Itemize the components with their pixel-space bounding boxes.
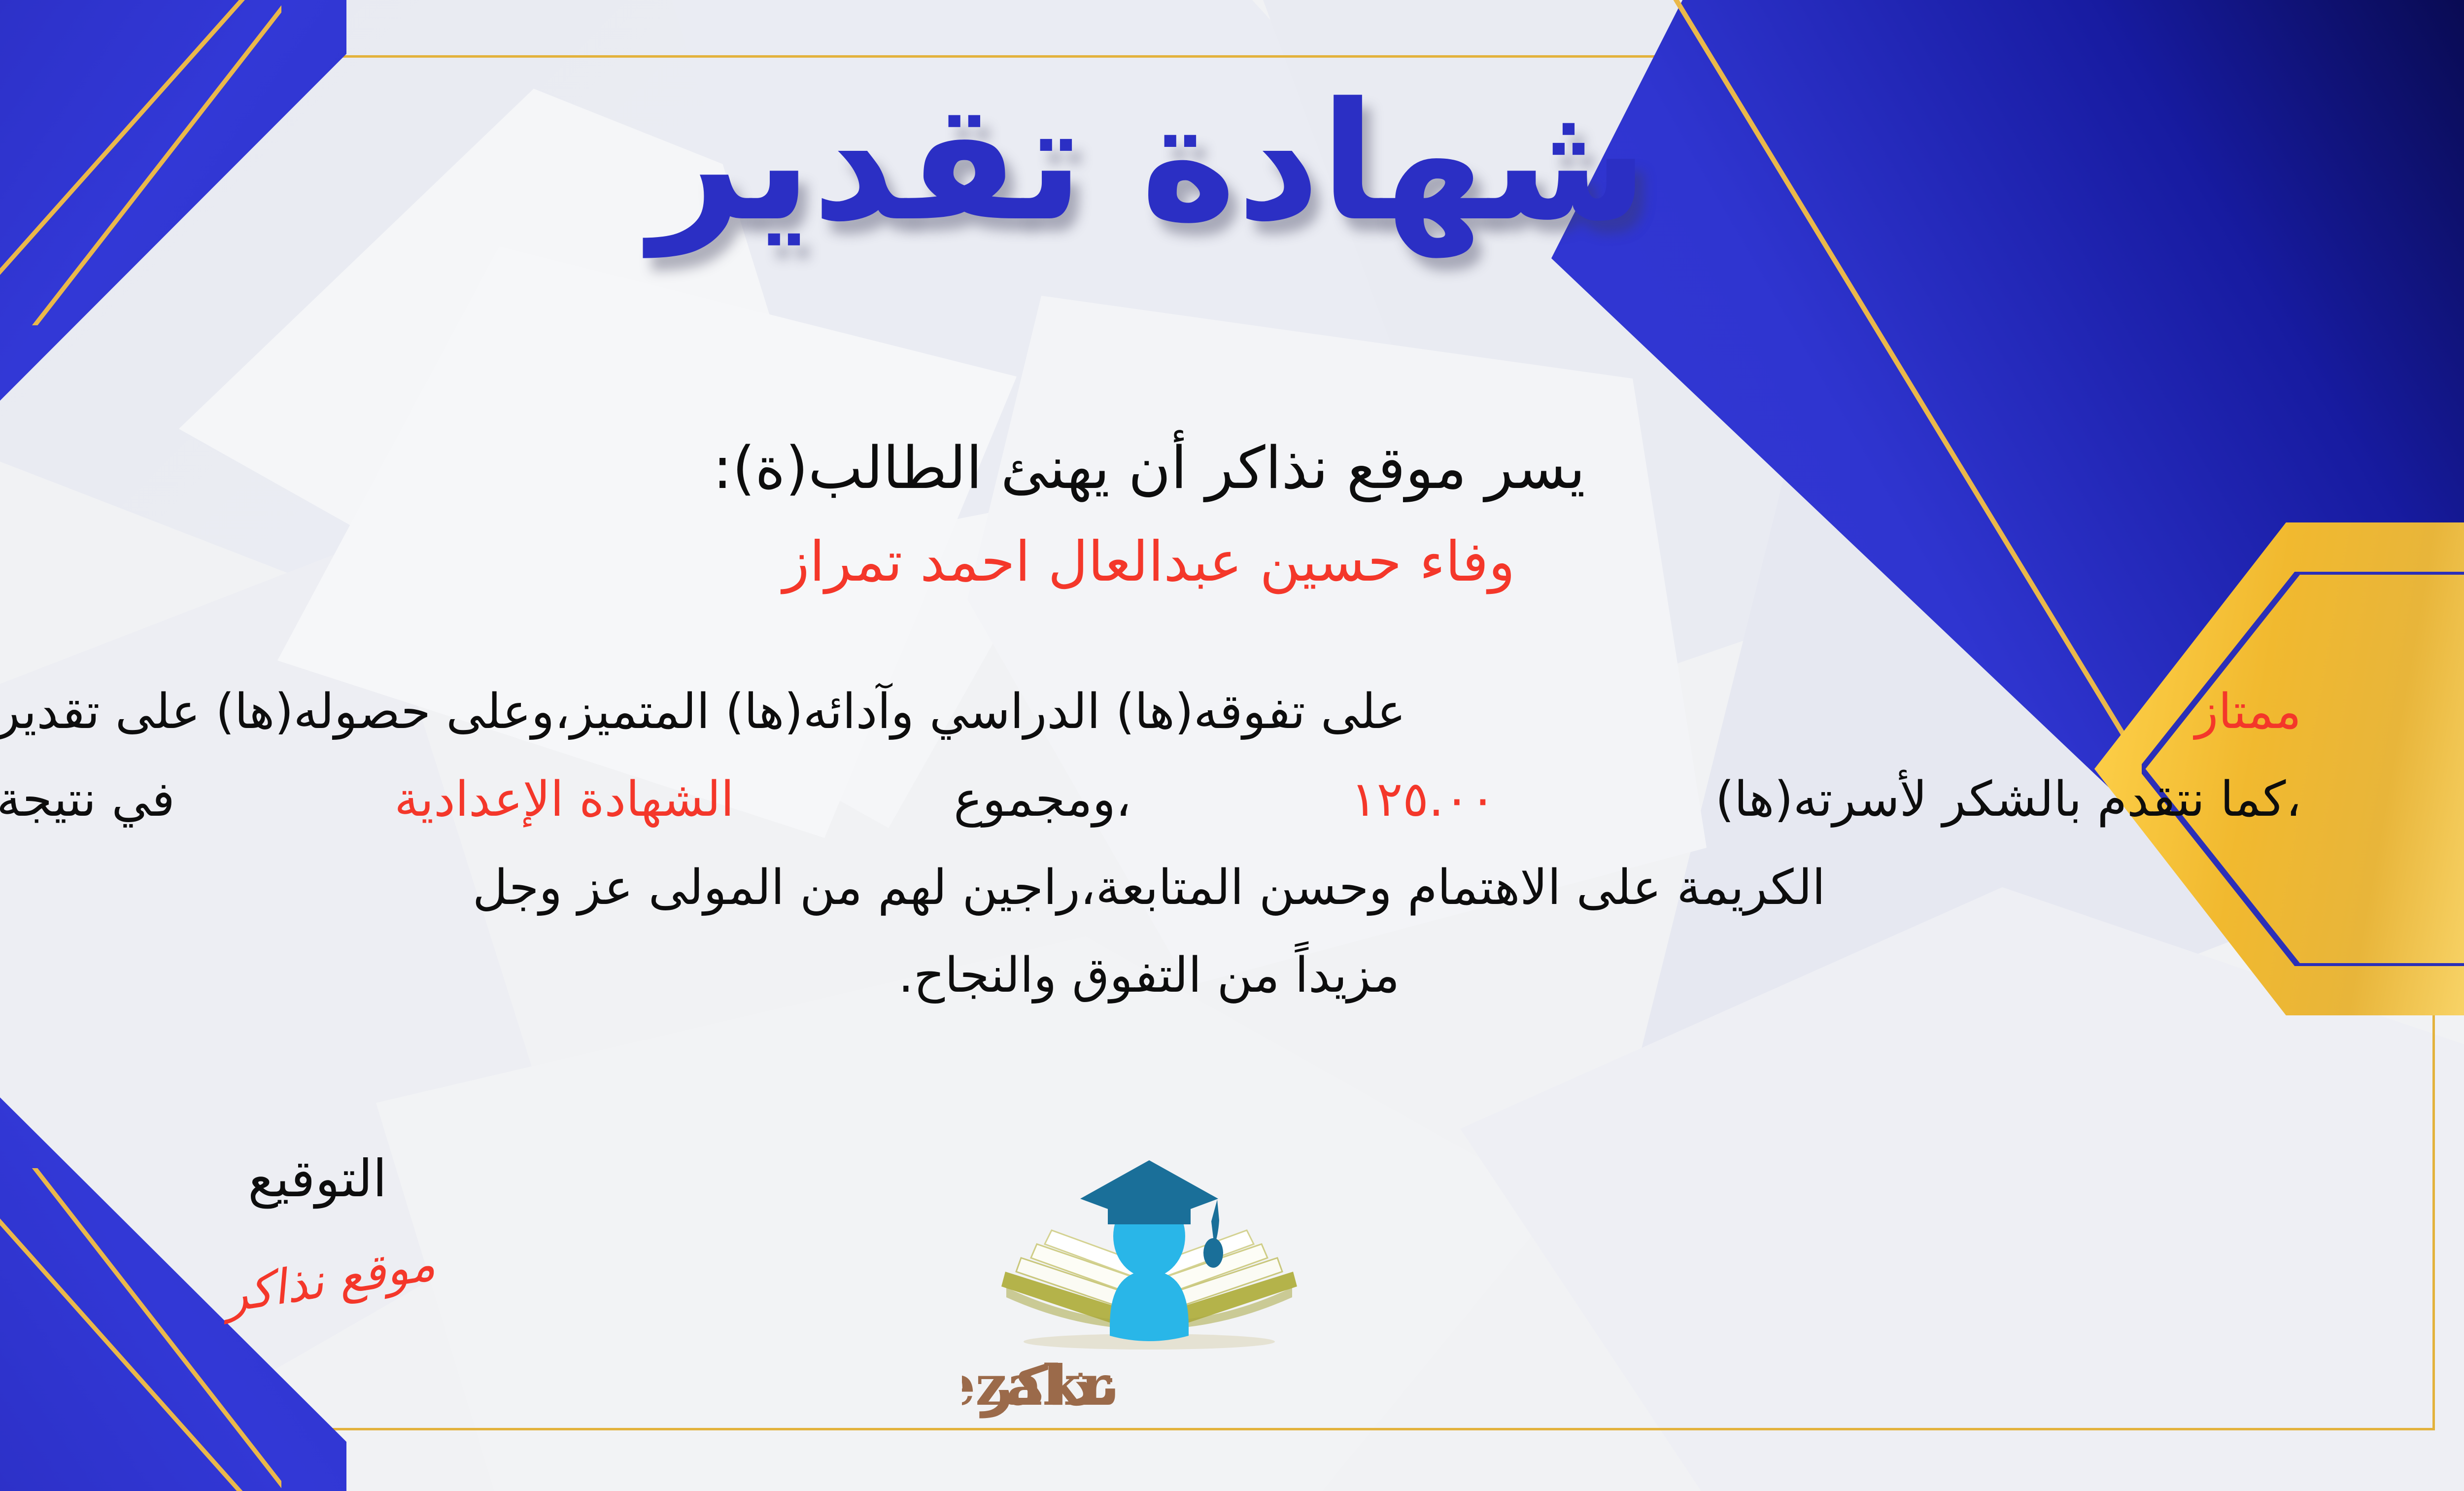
certificate-title: شهادة تقدير xyxy=(0,69,2464,256)
signature-label: التوقيع xyxy=(248,1148,387,1209)
exam-name-value: الشهادة الإعدادية xyxy=(394,756,734,843)
body-line-result-label: في نتيجة xyxy=(0,756,175,843)
nezakr-logo: Nezakr نذاكر xyxy=(962,1124,1336,1429)
body-line-achievement-text: على تفوقه(ها) الدراسي وآدائه(ها) المتميز… xyxy=(0,668,1406,756)
grade-value: ممتاز xyxy=(2195,668,2301,756)
body-line-closing-text: مزيداً من التفوق والنجاح. xyxy=(898,932,1400,1019)
body-line-closing: مزيداً من التفوق والنجاح. xyxy=(0,932,2301,1019)
signature-handwritten: موقع نذاكر xyxy=(220,1236,439,1323)
intro-line: يسر موقع نذاكر أن يهنئ الطالب(ة): xyxy=(0,434,2464,502)
logo-brand-arabic: نذاكر xyxy=(979,1354,1120,1418)
body-line-exam-and-score: ،كما نتقدم بالشكر لأسرته(ها) ١٢٥.٠٠ ،ومج… xyxy=(0,756,2301,843)
total-score-value: ١٢٥.٠٠ xyxy=(1351,756,1496,843)
logo-graphic: Nezakr نذاكر xyxy=(962,1124,1336,1429)
student-name: وفاء حسين عبدالعال احمد تمراز xyxy=(0,530,2464,594)
body-line-total-label: ،ومجموع xyxy=(954,756,1131,843)
certificate-canvas: شهادة تقدير يسر موقع نذاكر أن يهنئ الطال… xyxy=(0,0,2464,1491)
body-line-thanks-text: ،كما نتقدم بالشكر لأسرته(ها) xyxy=(1715,756,2301,843)
body-line-gratitude-text: الكريمة على الاهتمام وحسن المتابعة،راجين… xyxy=(473,844,1825,932)
certificate-content: شهادة تقدير يسر موقع نذاكر أن يهنئ الطال… xyxy=(0,0,2464,1491)
certificate-body: ممتاز على تفوقه(ها) الدراسي وآدائه(ها) ا… xyxy=(0,668,2301,1019)
body-line-achievement: ممتاز على تفوقه(ها) الدراسي وآدائه(ها) ا… xyxy=(0,668,2301,756)
body-line-gratitude: الكريمة على الاهتمام وحسن المتابعة،راجين… xyxy=(0,844,2301,932)
